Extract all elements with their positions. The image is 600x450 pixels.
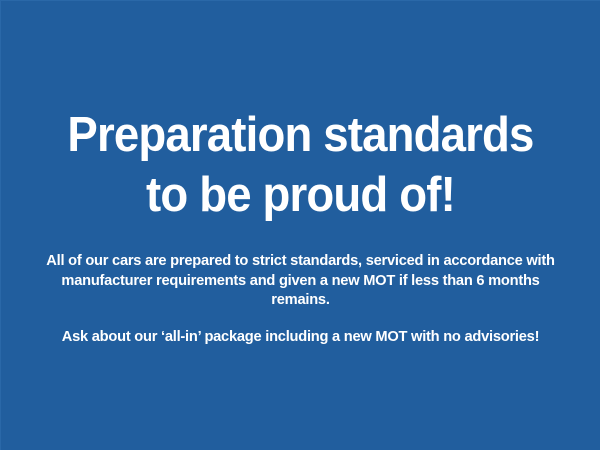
banner-content: Preparation standards to be proud of! Al… [1,105,600,346]
preparation-description: All of our cars are prepared to strict s… [29,251,572,310]
headline-line-2: to be proud of! [39,165,563,225]
all-in-package-callout: Ask about our ‘all-in’ package including… [29,327,572,347]
page-title: Preparation standards to be proud of! [39,105,563,225]
headline-line-1: Preparation standards [39,105,563,165]
promo-banner: Preparation standards to be proud of! Al… [0,0,600,450]
